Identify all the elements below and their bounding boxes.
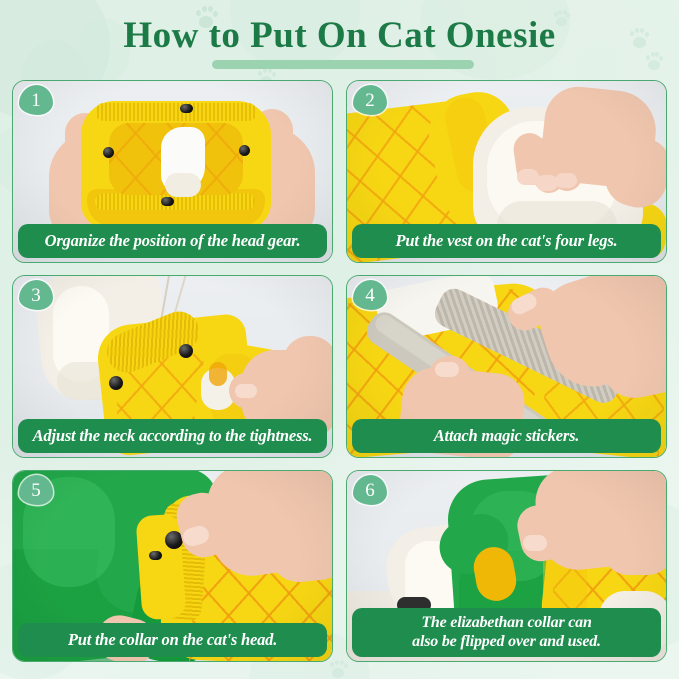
step-number-3: 3: [19, 280, 53, 310]
step-caption-6-line1: The elizabethan collar can: [358, 613, 655, 632]
step-caption-6-line2: also be flipped over and used.: [358, 632, 655, 651]
step-caption-3: Adjust the neck according to the tightne…: [18, 419, 327, 453]
step-number-6: 6: [353, 475, 387, 505]
step-card-6[interactable]: 6 The elizabethan collar can also be fli…: [346, 470, 667, 662]
steps-grid: 1 Organize the position of the head gear…: [12, 80, 667, 662]
step-caption-4: Attach magic stickers.: [352, 419, 661, 453]
step-caption-6: The elizabethan collar can also be flipp…: [352, 608, 661, 657]
step-card-3[interactable]: 3 Adjust the neck according to the tight…: [12, 275, 333, 458]
step-number-5: 5: [19, 475, 53, 505]
step-number-badge-2: 2: [353, 85, 387, 115]
step-card-5[interactable]: 5 Put the collar on the cat's head.: [12, 470, 333, 662]
step-number-4: 4: [353, 280, 387, 310]
step-card-4[interactable]: 4 Attach magic stickers.: [346, 275, 667, 458]
step-number-badge-6: 6: [353, 475, 387, 505]
step-number-badge-3: 3: [19, 280, 53, 310]
step-number-2: 2: [353, 85, 387, 115]
step-number-badge-4: 4: [353, 280, 387, 310]
step-number-badge-1: 1: [19, 85, 53, 115]
step-card-1[interactable]: 1 Organize the position of the head gear…: [12, 80, 333, 263]
step-number-badge-5: 5: [19, 475, 53, 505]
step-caption-5: Put the collar on the cat's head.: [18, 623, 327, 657]
step-number-1: 1: [19, 85, 53, 115]
step-caption-1: Organize the position of the head gear.: [18, 224, 327, 258]
page-title-block: How to Put On Cat Onesie: [0, 14, 679, 58]
step-caption-2: Put the vest on the cat's four legs.: [352, 224, 661, 258]
title-underline: [212, 60, 474, 69]
infographic-page: How to Put On Cat Onesie: [0, 0, 679, 679]
page-title: How to Put On Cat Onesie: [0, 14, 679, 58]
step-card-2[interactable]: 2 Put the vest on the cat's four legs.: [346, 80, 667, 263]
